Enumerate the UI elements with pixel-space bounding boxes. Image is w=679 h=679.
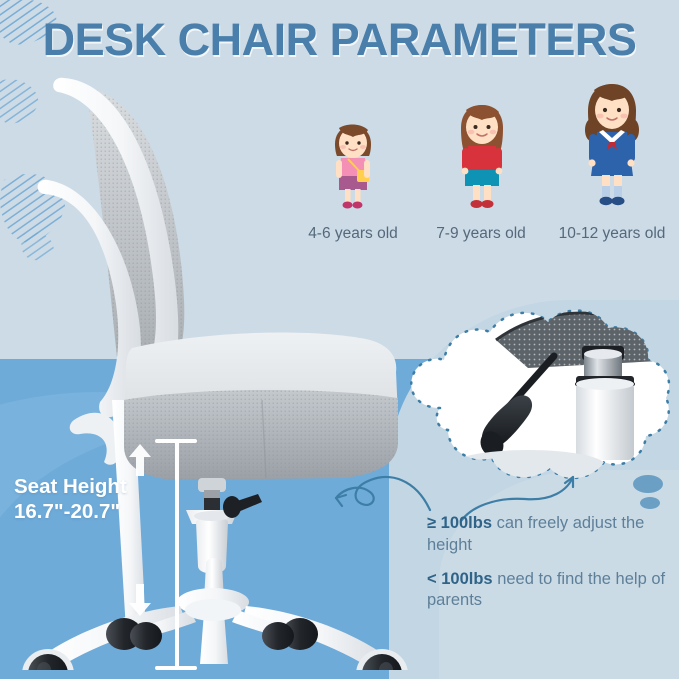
dimension-line [175,440,179,670]
chair-seat-plate [198,478,226,492]
arrow-down-icon [126,583,154,617]
age-figure-3: 10-12 years old [549,80,675,217]
thought-bubble-small [640,497,660,509]
thought-bubble-large [633,475,663,493]
age-figure-2: 7-9 years old [421,100,541,217]
age-group-label-3: 10-12 years old [549,225,675,243]
dimension-cap-bottom [155,666,197,670]
girl-red-figure-icon [421,100,541,212]
arrow-up-icon [126,443,154,477]
gas-cylinder-icon [576,382,634,460]
page-title: DESK CHAIR PARAMETERS [0,14,679,66]
weight-note-2: < 100lbs need to find the help of parent… [427,569,675,613]
weight-note-2-symbol: < [427,570,437,588]
age-group-label-2: 7-9 years old [421,225,541,243]
girl-blue-figure-icon [549,80,675,212]
chair-base-star [42,558,386,669]
seat-height-callout: Seat Height 16.7"-20.7" [14,474,127,524]
infographic-canvas: DESK CHAIR PARAMETERS [0,0,679,679]
weight-note-1: ≥ 100lbs can freely adjust the height [427,513,675,557]
seat-height-value: 16.7"-20.7" [14,499,127,524]
weight-note-1-weight: 100lbs [441,514,492,532]
weight-note-2-weight: 100lbs [441,570,492,588]
seat-height-title: Seat Height [14,474,127,499]
desk-chair-illustration [0,70,430,670]
curved-arrow-left-icon [330,462,440,522]
weight-note-1-symbol: ≥ [427,514,436,532]
weight-notes: ≥ 100lbs can freely adjust the height < … [427,513,675,624]
